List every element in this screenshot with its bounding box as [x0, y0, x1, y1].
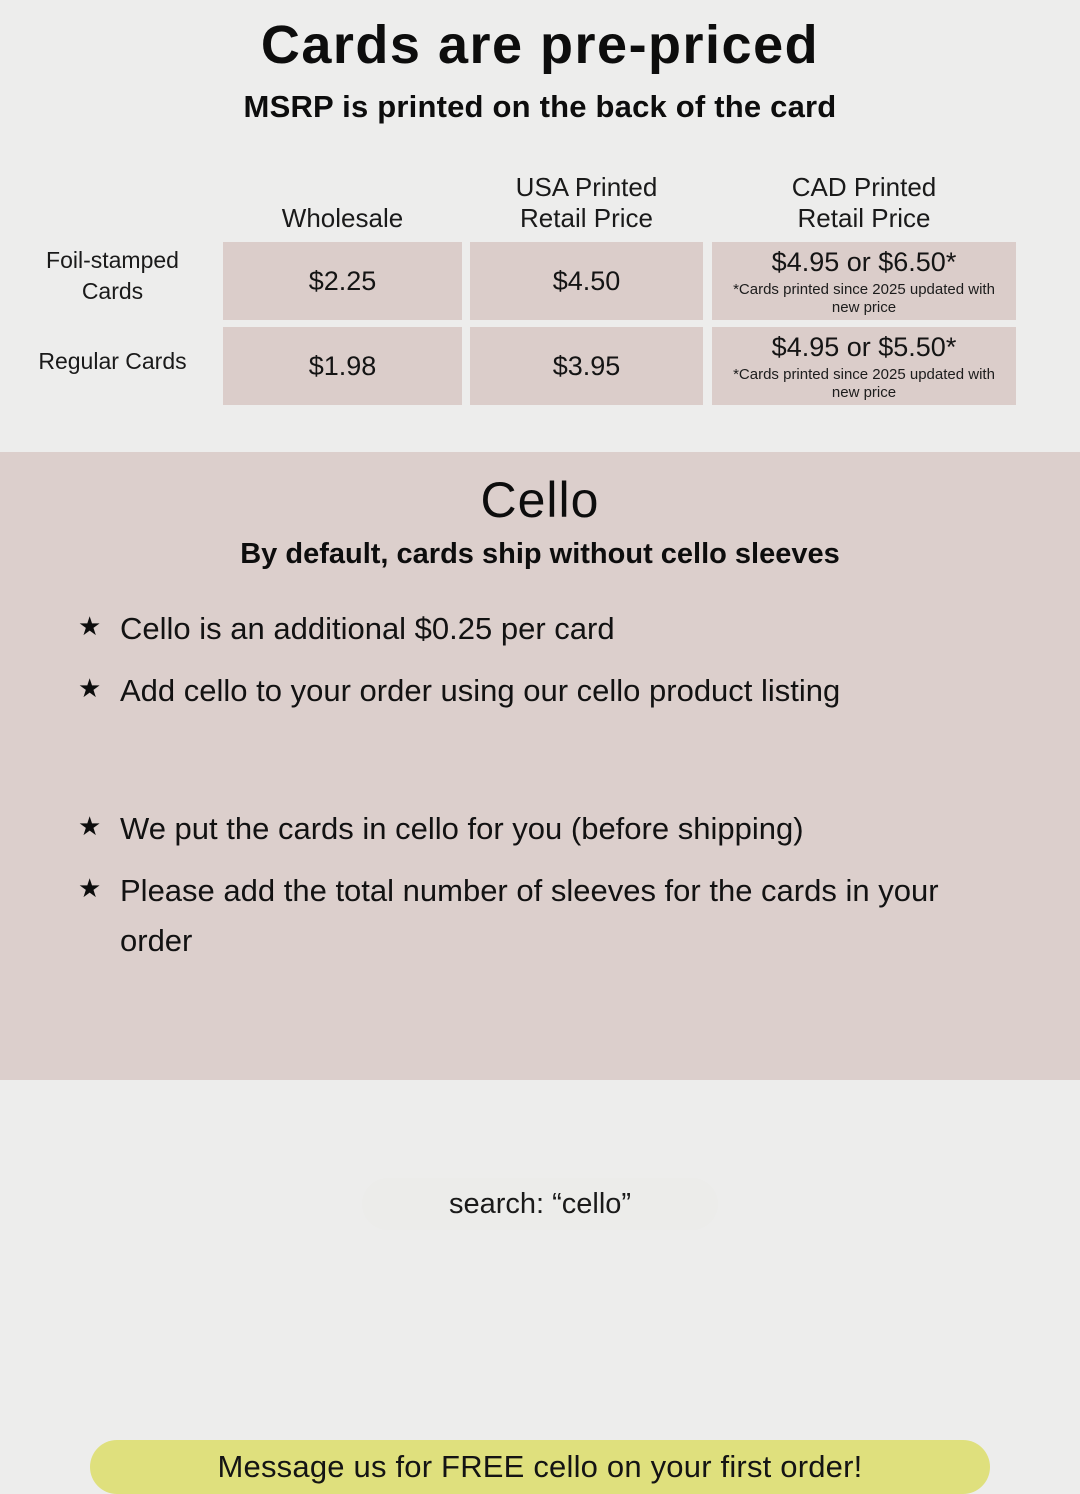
row-label-regular: Regular Cards	[10, 346, 215, 377]
star-icon: ★	[78, 666, 120, 710]
table-cell-regular-usa-retail: $3.95	[470, 327, 703, 405]
list-item-label: Cello is an additional $0.25 per card	[120, 604, 1018, 654]
price-footnote: *Cards printed since 2025 updated with n…	[712, 366, 1016, 402]
table-cell-regular-wholesale: $1.98	[223, 327, 462, 405]
star-icon: ★	[78, 804, 120, 848]
free-cello-cta-banner[interactable]: Message us for FREE cello on your first …	[90, 1440, 990, 1494]
search-hint-label: search: “cello”	[449, 1188, 631, 1221]
row-label-foil-stamped: Foil-stamped Cards	[10, 245, 215, 307]
price-value: $4.50	[553, 265, 621, 297]
column-header-cad-line1: CAD Printed	[712, 172, 1016, 203]
list-item: ★ Cello is an additional $0.25 per card	[78, 604, 1018, 654]
cello-subtitle: By default, cards ship without cello sle…	[0, 538, 1080, 571]
table-cell-regular-cad-retail: $4.95 or $5.50* *Cards printed since 202…	[712, 327, 1016, 405]
column-header-cad-line2: Retail Price	[712, 203, 1016, 234]
list-item: ★ We put the cards in cello for you (bef…	[78, 804, 1018, 854]
star-icon: ★	[78, 604, 120, 648]
price-value: $4.95 or $6.50*	[772, 246, 957, 278]
price-footnote: *Cards printed since 2025 updated with n…	[712, 281, 1016, 317]
pricing-section: Cards are pre-priced MSRP is printed on …	[0, 0, 1080, 452]
pricing-table: Wholesale USA Printed Retail Price CAD P…	[0, 168, 1080, 408]
page-subtitle: MSRP is printed on the back of the card	[0, 89, 1080, 125]
column-header-usa-line1: USA Printed	[470, 172, 703, 203]
cta-label: Message us for FREE cello on your first …	[218, 1449, 863, 1485]
column-header-cad-retail: CAD Printed Retail Price	[712, 172, 1016, 234]
row-label-foil-line1: Foil-stamped	[10, 245, 215, 276]
list-item-label: We put the cards in cello for you (befor…	[120, 804, 1018, 854]
table-cell-foil-usa-retail: $4.50	[470, 242, 703, 320]
table-cell-foil-wholesale: $2.25	[223, 242, 462, 320]
list-item-label: Add cello to your order using our cello …	[120, 666, 1018, 716]
search-pill-spacer	[78, 728, 1018, 804]
star-icon: ★	[78, 866, 120, 910]
column-header-usa-retail: USA Printed Retail Price	[470, 172, 703, 234]
row-label-regular-line1: Regular Cards	[10, 346, 215, 377]
cello-section: Cello By default, cards ship without cel…	[0, 452, 1080, 1080]
cello-bullet-list: ★ Cello is an additional $0.25 per card …	[78, 604, 1018, 978]
list-item-label: Please add the total number of sleeves f…	[120, 866, 1018, 966]
price-value: $3.95	[553, 350, 621, 382]
page-title: Cards are pre-priced	[0, 14, 1080, 76]
column-header-wholesale-line1: Wholesale	[223, 203, 462, 234]
price-value: $4.95 or $5.50*	[772, 331, 957, 363]
column-header-usa-line2: Retail Price	[470, 203, 703, 234]
search-hint-pill[interactable]: search: “cello”	[362, 1178, 718, 1230]
infographic-page: Cards are pre-priced MSRP is printed on …	[0, 0, 1080, 1080]
list-item: ★ Please add the total number of sleeves…	[78, 866, 1018, 966]
price-value: $1.98	[309, 350, 377, 382]
row-label-foil-line2: Cards	[10, 276, 215, 307]
column-header-wholesale: Wholesale	[223, 203, 462, 234]
price-value: $2.25	[309, 265, 377, 297]
cello-title: Cello	[0, 471, 1080, 529]
list-item: ★ Add cello to your order using our cell…	[78, 666, 1018, 716]
table-cell-foil-cad-retail: $4.95 or $6.50* *Cards printed since 202…	[712, 242, 1016, 320]
